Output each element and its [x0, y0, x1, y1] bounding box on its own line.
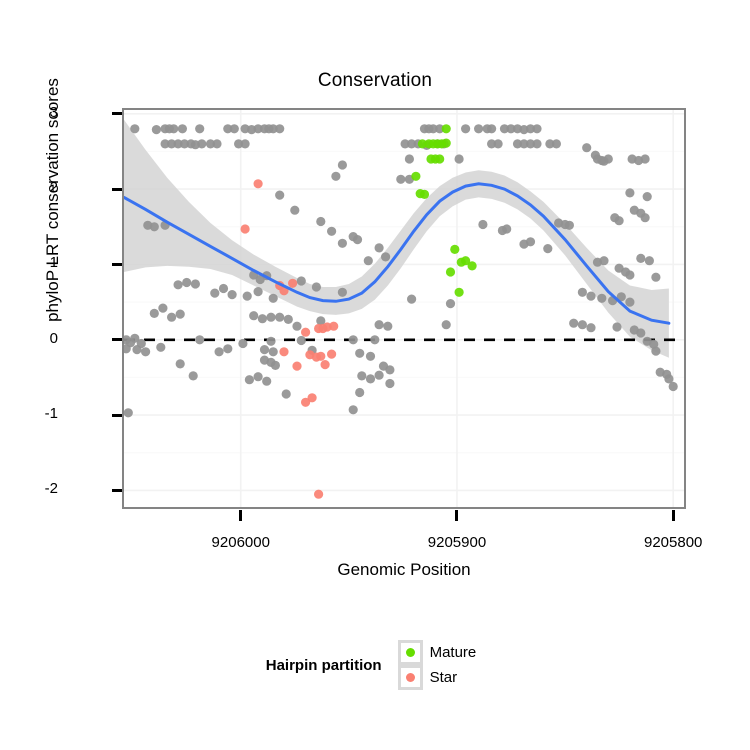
scatter-point — [167, 313, 176, 322]
scatter-point — [446, 267, 455, 276]
scatter-point — [578, 288, 587, 297]
scatter-point — [150, 309, 159, 318]
legend-key — [398, 665, 423, 690]
scatter-point — [411, 172, 420, 181]
plot-panel — [122, 108, 686, 509]
scatter-point — [478, 220, 487, 229]
scatter-point — [597, 294, 606, 303]
legend-dot-icon — [406, 673, 415, 682]
scatter-point — [364, 256, 373, 265]
conservation-chart-figure: Conservation phyloP LRT conservation sco… — [0, 0, 750, 750]
scatter-point — [279, 347, 288, 356]
scatter-point — [461, 124, 470, 133]
scatter-point — [582, 143, 591, 152]
scatter-point — [230, 124, 239, 133]
scatter-point — [357, 371, 366, 380]
legend-item-star[interactable]: Star — [398, 665, 485, 690]
y-tick-mark — [112, 263, 122, 266]
scatter-point — [474, 124, 483, 133]
scatter-point — [269, 294, 278, 303]
scatter-point — [292, 362, 301, 371]
scatter-point — [405, 154, 414, 163]
x-tick-mark — [239, 510, 242, 521]
y-tick-label: -1 — [18, 405, 58, 422]
scatter-point — [355, 349, 364, 358]
y-tick-label: -2 — [18, 480, 58, 497]
scatter-point — [316, 217, 325, 226]
y-tick-mark — [112, 414, 122, 417]
scatter-point — [643, 192, 652, 201]
scatter-point — [189, 371, 198, 380]
scatter-point — [321, 360, 330, 369]
scatter-point — [487, 124, 496, 133]
scatter-point — [625, 298, 634, 307]
scatter-point — [366, 374, 375, 383]
scatter-point — [569, 319, 578, 328]
scatter-point — [446, 299, 455, 308]
scatter-point — [271, 361, 280, 370]
scatter-point — [297, 336, 306, 345]
gridlines — [124, 110, 684, 507]
scatter-point — [195, 124, 204, 133]
scatter-point — [215, 347, 224, 356]
scatter-point — [245, 375, 254, 384]
scatter-point — [260, 345, 269, 354]
legend: Hairpin partition MatureStar — [0, 640, 750, 690]
y-tick-mark — [112, 489, 122, 492]
scatter-point — [219, 284, 228, 293]
scatter-point — [349, 405, 358, 414]
scatter-point — [228, 290, 237, 299]
scatter-point — [169, 124, 178, 133]
scatter-point — [468, 261, 477, 270]
x-tick-label: 9206000 — [181, 534, 301, 551]
scatter-point — [442, 139, 451, 148]
scatter-point — [182, 278, 191, 287]
scatter-point — [288, 279, 297, 288]
scatter-point — [651, 347, 660, 356]
scatter-point — [450, 245, 459, 254]
scatter-point — [254, 179, 263, 188]
scatter-point — [275, 124, 284, 133]
scatter-point — [254, 372, 263, 381]
scatter-point — [130, 124, 139, 133]
scatter-point — [258, 314, 267, 323]
scatter-point — [366, 352, 375, 361]
scatter-point — [269, 347, 278, 356]
scatter-point — [329, 322, 338, 331]
scatter-point — [349, 335, 358, 344]
scatter-point — [238, 339, 247, 348]
scatter-point — [195, 335, 204, 344]
scatter-point — [641, 213, 650, 222]
scatter-point — [612, 322, 621, 331]
scatter-point — [502, 224, 511, 233]
scatter-point — [212, 139, 221, 148]
scatter-point — [385, 379, 394, 388]
scatter-point — [176, 359, 185, 368]
scatter-point — [275, 191, 284, 200]
scatter-point — [141, 347, 150, 356]
scatter-point — [327, 350, 336, 359]
scatter-point — [158, 304, 167, 313]
scatter-point — [124, 408, 133, 417]
scatter-point — [420, 190, 429, 199]
scatter-point — [282, 389, 291, 398]
y-axis-title: phyloP LRT conservation scores — [43, 35, 63, 365]
scatter-point — [132, 345, 141, 354]
scatter-point — [243, 292, 252, 301]
scatter-point — [290, 206, 299, 215]
scatter-point — [565, 221, 574, 230]
scatter-points — [124, 124, 678, 499]
y-tick-label: 1 — [18, 254, 58, 271]
scatter-point — [651, 273, 660, 282]
legend-dot-icon — [406, 648, 415, 657]
scatter-point — [266, 337, 275, 346]
scatter-point — [249, 311, 258, 320]
scatter-point — [494, 139, 503, 148]
page-title: Conservation — [0, 70, 750, 92]
scatter-point — [210, 289, 219, 298]
scatter-point — [586, 292, 595, 301]
scatter-point — [586, 323, 595, 332]
scatter-point — [385, 365, 394, 374]
scatter-point — [442, 320, 451, 329]
scatter-point — [275, 313, 284, 322]
scatter-point — [532, 139, 541, 148]
scatter-point — [636, 328, 645, 337]
scatter-point — [312, 282, 321, 291]
legend-key — [398, 640, 423, 665]
confidence-ribbon — [124, 120, 669, 358]
scatter-point — [266, 313, 275, 322]
y-tick-label: 2 — [18, 179, 58, 196]
scatter-point — [338, 288, 347, 297]
x-axis-title: Genomic Position — [122, 560, 686, 580]
legend-items: MatureStar — [398, 640, 485, 690]
scatter-point — [625, 270, 634, 279]
x-tick-label: 9205800 — [613, 534, 733, 551]
scatter-point — [578, 320, 587, 329]
y-tick-mark — [112, 338, 122, 341]
x-tick-mark — [455, 510, 458, 521]
scatter-point — [254, 287, 263, 296]
y-tick-label: 3 — [18, 104, 58, 121]
scatter-point — [552, 139, 561, 148]
scatter-point — [375, 243, 384, 252]
x-tick-mark — [672, 510, 675, 521]
scatter-point — [636, 254, 645, 263]
scatter-point — [301, 328, 310, 337]
scatter-point — [669, 382, 678, 391]
scatter-point — [370, 335, 379, 344]
scatter-point — [176, 310, 185, 319]
scatter-point — [455, 288, 464, 297]
scatter-point — [615, 216, 624, 225]
scatter-point — [197, 139, 206, 148]
scatter-point — [297, 276, 306, 285]
legend-label: Star — [430, 669, 458, 686]
scatter-point — [455, 154, 464, 163]
scatter-point — [150, 222, 159, 231]
scatter-point — [241, 139, 250, 148]
scatter-point — [191, 279, 200, 288]
scatter-point — [292, 322, 301, 331]
y-tick-mark — [112, 188, 122, 191]
scatter-point — [641, 154, 650, 163]
scatter-point — [156, 343, 165, 352]
scatter-point — [301, 398, 310, 407]
scatter-point — [543, 244, 552, 253]
legend-item-mature[interactable]: Mature — [398, 640, 485, 665]
scatter-point — [262, 377, 271, 386]
scatter-point — [223, 344, 232, 353]
scatter-point — [355, 388, 364, 397]
scatter-point — [174, 280, 183, 289]
scatter-point — [396, 175, 405, 184]
scatter-point — [526, 237, 535, 246]
scatter-point — [383, 322, 392, 331]
scatter-point — [241, 224, 250, 233]
y-tick-label: 0 — [18, 330, 58, 347]
scatter-point — [375, 320, 384, 329]
scatter-point — [381, 252, 390, 261]
confidence-band — [124, 120, 669, 358]
scatter-point — [353, 235, 362, 244]
scatter-point — [331, 172, 340, 181]
scatter-point — [314, 490, 323, 499]
scatter-point — [407, 295, 416, 304]
plot-canvas — [124, 110, 684, 507]
scatter-point — [338, 239, 347, 248]
legend-title: Hairpin partition — [266, 657, 382, 674]
scatter-point — [435, 154, 444, 163]
scatter-point — [532, 124, 541, 133]
y-tick-mark — [112, 112, 122, 115]
scatter-point — [327, 227, 336, 236]
scatter-point — [375, 371, 384, 380]
scatter-point — [178, 124, 187, 133]
scatter-point — [152, 125, 161, 134]
scatter-point — [599, 157, 608, 166]
legend-label: Mature — [430, 644, 477, 661]
scatter-point — [625, 188, 634, 197]
x-tick-label: 9205900 — [397, 534, 517, 551]
scatter-point — [284, 315, 293, 324]
scatter-point — [442, 124, 451, 133]
scatter-point — [645, 256, 654, 265]
scatter-point — [316, 352, 325, 361]
scatter-point — [599, 256, 608, 265]
scatter-point — [338, 160, 347, 169]
